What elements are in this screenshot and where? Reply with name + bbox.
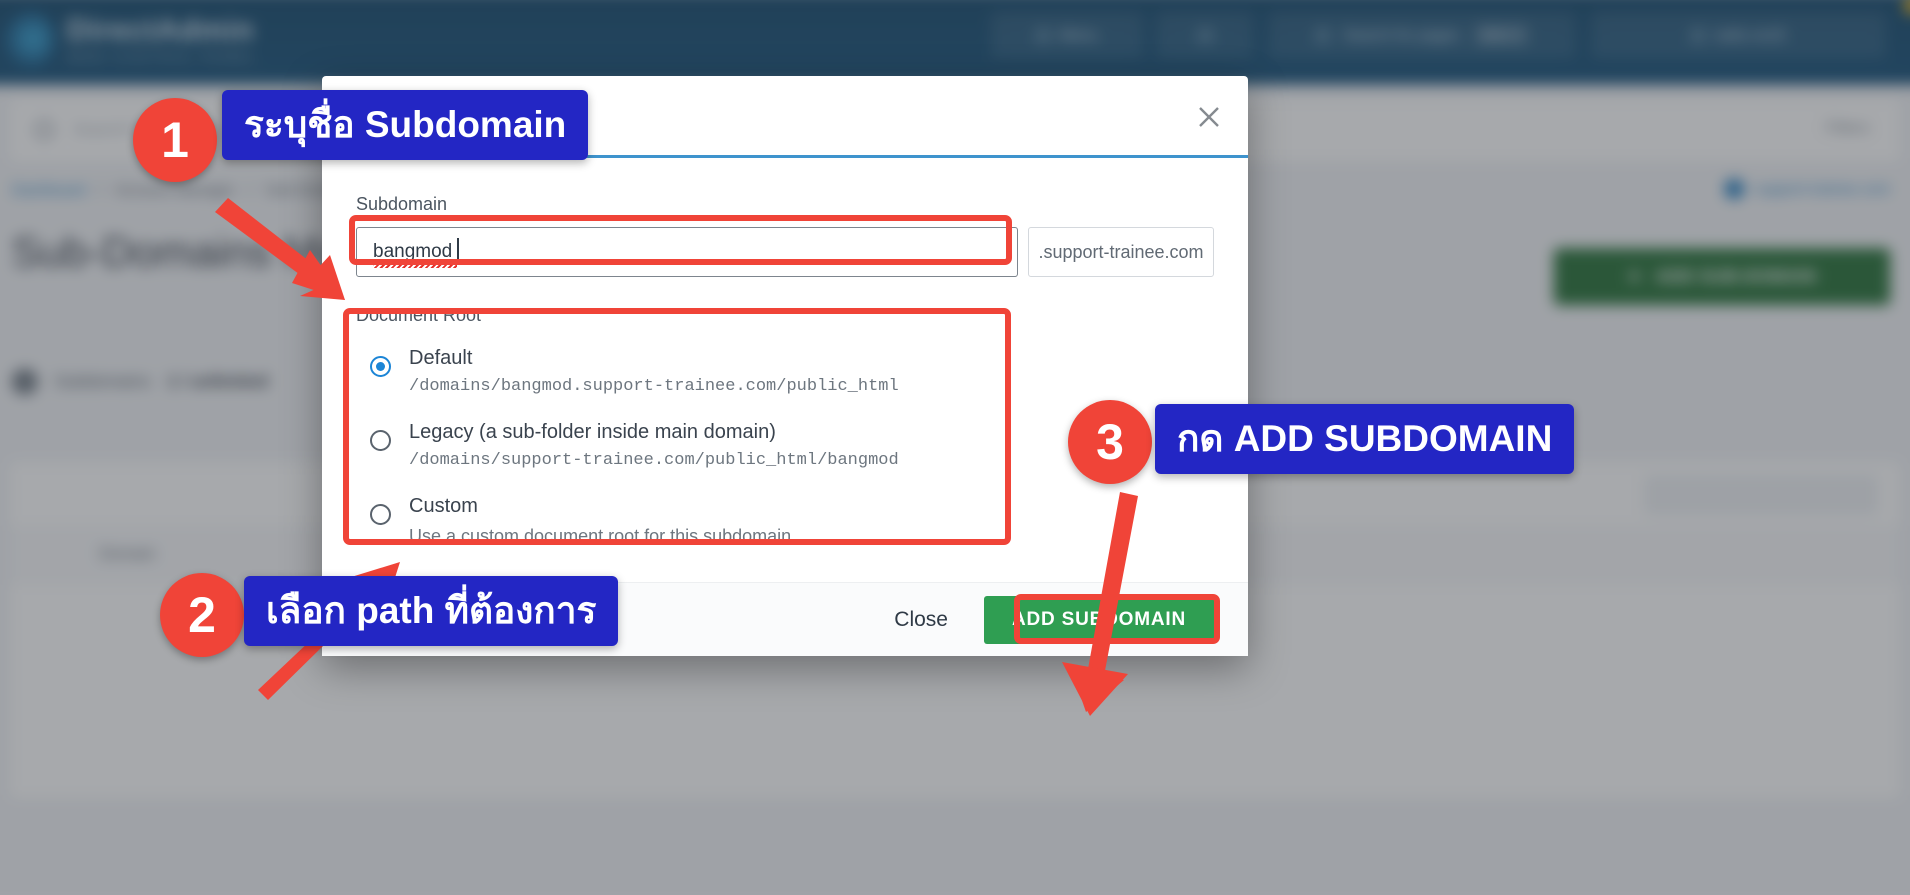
radio-option-custom[interactable]: Custom Use a custom document root for th… [356,484,1018,559]
callout-text-2: เลือก path ที่ต้องการ [244,576,618,646]
subdomain-input[interactable] [356,227,1018,277]
screenshot-root: DirectAdmin WEB CONTROL PANEL Menu Searc… [0,0,1910,895]
callout-text-1: ระบุชื่อ Subdomain [222,90,588,160]
close-icon[interactable] [1194,102,1224,132]
radio-option-path: /domains/support-trainee.com/public_html… [409,448,899,474]
radio-option-default[interactable]: Default /domains/bangmod.support-trainee… [356,336,1018,410]
domain-suffix-label: .support-trainee.com [1028,227,1214,277]
radio-option-title: Default [409,344,899,372]
radio-indicator[interactable] [370,430,391,451]
callout-number-2: 2 [160,573,244,657]
add-subdomain-button[interactable]: ADD SUBDOMAIN [984,596,1214,644]
document-root-radio-group: Default /domains/bangmod.support-trainee… [356,336,1018,559]
radio-option-description: Use a custom document root for this subd… [409,523,791,549]
radio-option-title: Custom [409,492,791,520]
callout-number-1: 1 [133,98,217,182]
document-root-label: Document Root [356,305,1214,326]
radio-option-title: Legacy (a sub-folder inside main domain) [409,418,899,446]
close-button[interactable]: Close [884,602,958,638]
dialog-body: Subdomain .support-trainee.com Document … [322,158,1248,582]
subdomain-field-label: Subdomain [356,194,1214,215]
add-subdomain-dialog: Add Subdomain Subdomain .support-trainee… [322,76,1248,656]
callout-number-3: 3 [1068,400,1152,484]
radio-indicator[interactable] [370,504,391,525]
callout-text-3: กด ADD SUBDOMAIN [1155,404,1574,474]
text-caret [457,238,459,264]
radio-indicator[interactable] [370,356,391,377]
radio-option-path: /domains/bangmod.support-trainee.com/pub… [409,374,899,400]
subdomain-input-wrapper [356,227,1018,277]
subdomain-input-row: .support-trainee.com [356,227,1214,277]
radio-option-legacy[interactable]: Legacy (a sub-folder inside main domain)… [356,410,1018,484]
